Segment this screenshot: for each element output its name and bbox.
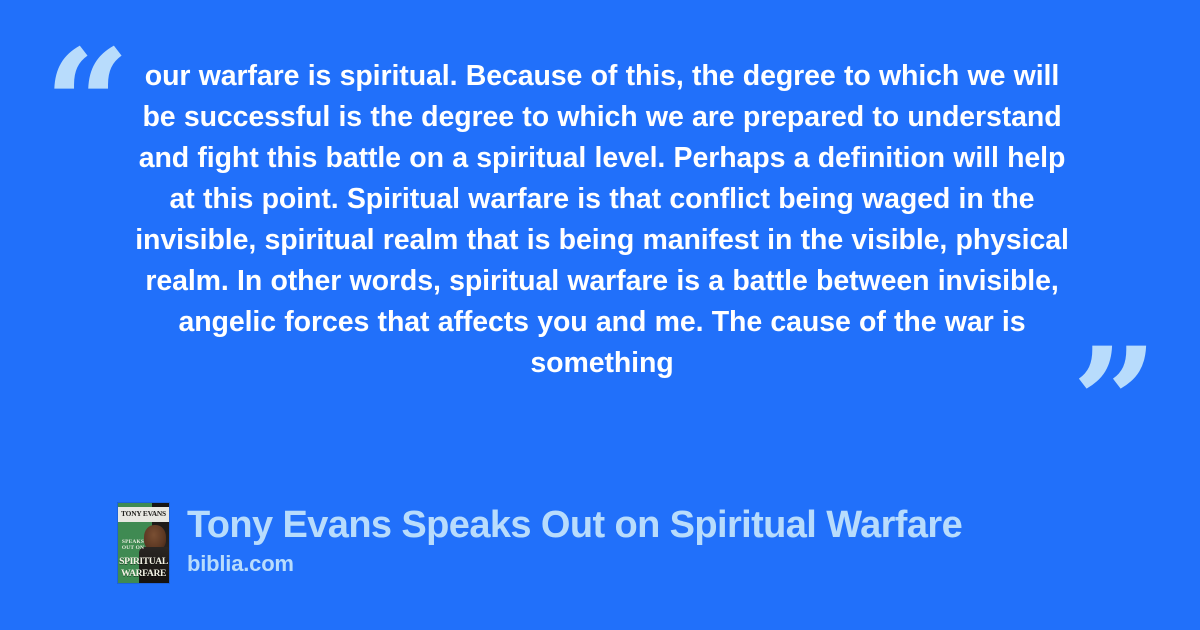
book-cover-author-name: TONY EVANS [118, 508, 169, 519]
quote-block: “ our warfare is spiritual. Because of t… [0, 36, 1200, 436]
opening-quote-icon: “ [44, 30, 128, 180]
quote-text: our warfare is spiritual. Because of thi… [128, 56, 1076, 384]
quote-card: “ our warfare is spiritual. Because of t… [0, 0, 1200, 630]
book-cover-thumbnail: TONY EVANS SPEAKS OUT ON SPIRITUAL WARFA… [118, 503, 169, 583]
book-cover-title-line-2: WARFARE [119, 568, 168, 580]
book-title[interactable]: Tony Evans Speaks Out on Spiritual Warfa… [187, 503, 962, 547]
book-cover-title: SPIRITUAL WARFARE [119, 556, 168, 579]
closing-quote-icon: ” [1072, 328, 1156, 478]
book-cover-subtitle-line-2: OUT ON [120, 545, 146, 551]
book-cover-title-line-1: SPIRITUAL [119, 556, 168, 568]
book-cover-subtitle: SPEAKS OUT ON [120, 539, 146, 552]
footer-text-group: Tony Evans Speaks Out on Spiritual Warfa… [187, 503, 962, 577]
source-site[interactable]: biblia.com [187, 551, 962, 577]
footer-attribution[interactable]: TONY EVANS SPEAKS OUT ON SPIRITUAL WARFA… [118, 503, 962, 583]
